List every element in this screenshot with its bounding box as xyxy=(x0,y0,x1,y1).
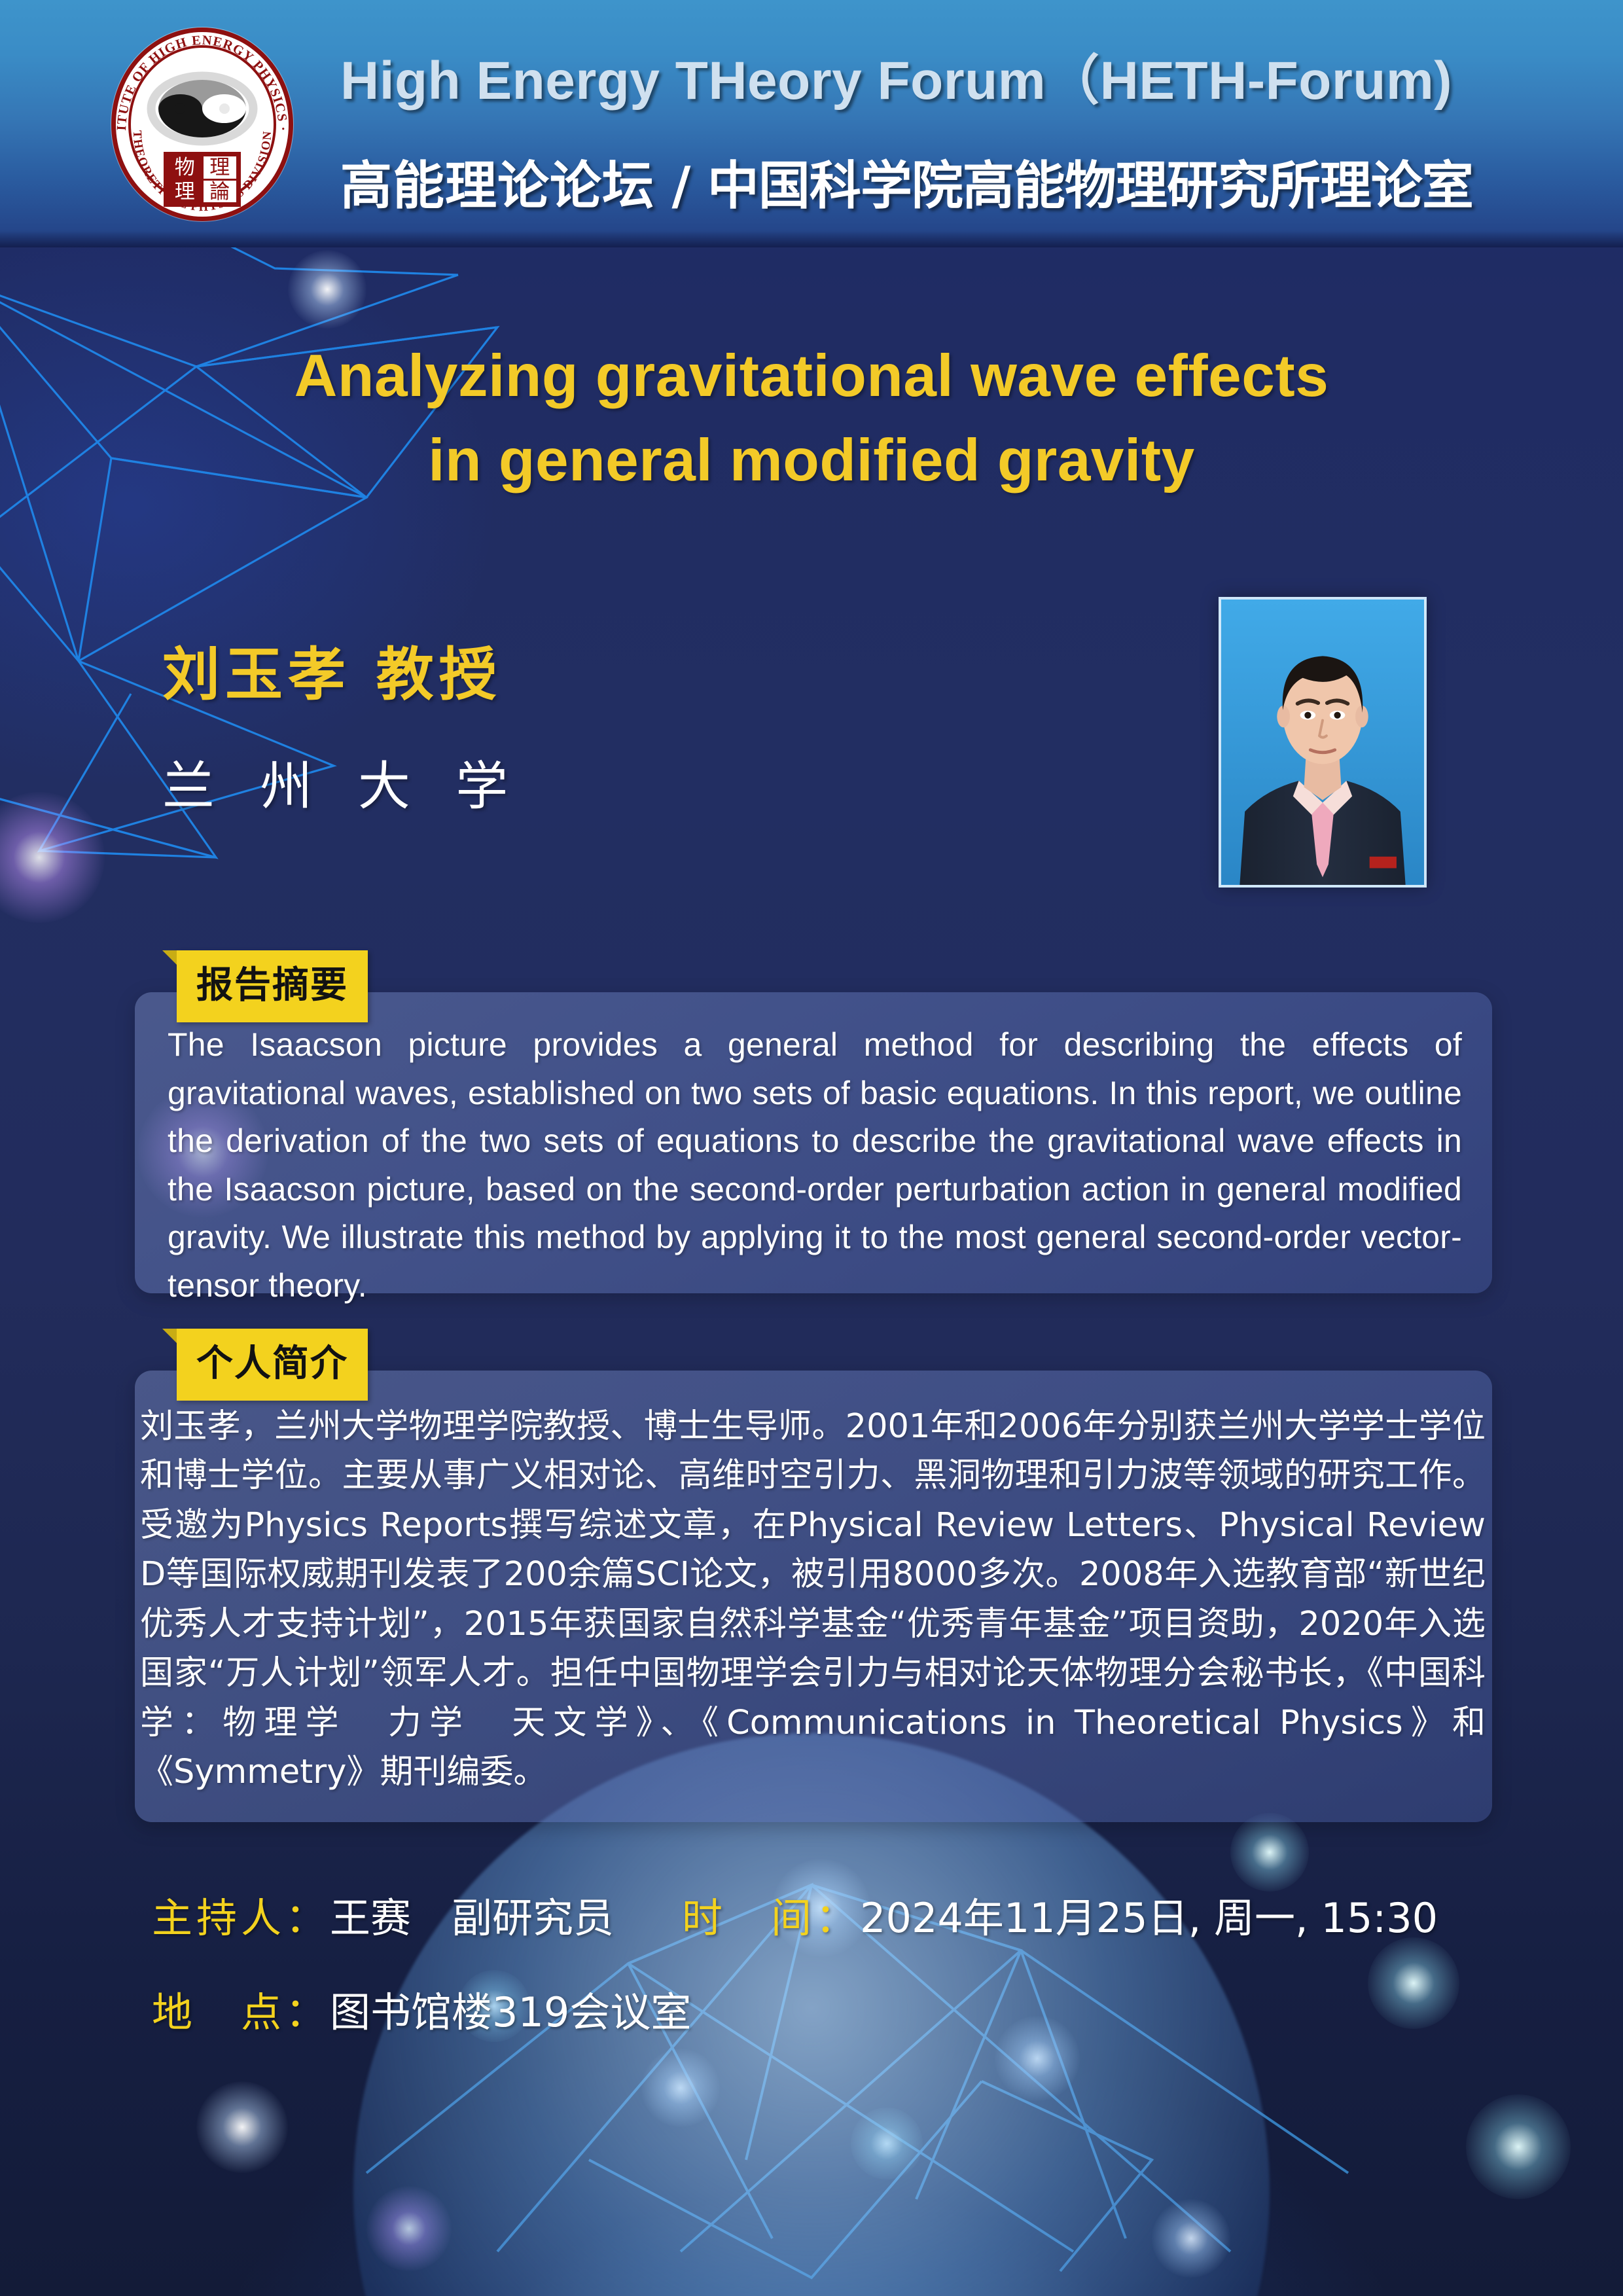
bio-section-tag: 个人简介 xyxy=(177,1329,368,1401)
info-row-host-time: 主持人： 王赛 副研究员 时 间： 2024年11月25日, 周一, 15:30 xyxy=(152,1898,1526,1939)
logo-seal-characters: 物 理 理 論 xyxy=(164,152,241,207)
header-title-group: High Energy THeory Forum（HETH-Forum) 高能理… xyxy=(340,37,1571,219)
host-label: 主持人： xyxy=(152,1898,330,1939)
place-label: 地 点： xyxy=(152,1992,330,2033)
speaker-name: 刘玉孝 教授 xyxy=(162,628,522,711)
event-info: 主持人： 王赛 副研究员 时 间： 2024年11月25日, 周一, 15:30… xyxy=(152,1898,1526,2087)
time-value: 2024年11月25日, 周一, 15:30 xyxy=(860,1898,1438,1939)
yin-yang-galaxy-icon xyxy=(145,71,259,149)
ihep-logo: INSTITUTE OF HIGH ENERGY PHYSICS · CAS T… xyxy=(111,27,293,221)
place-value: 图书馆楼319会议室 xyxy=(330,1992,691,2033)
star-glow xyxy=(196,2081,288,2173)
star-glow xyxy=(366,2186,452,2271)
speaker-affiliation: 兰 州 大 学 xyxy=(162,744,522,820)
star-glow xyxy=(851,2108,923,2179)
time-label: 时 间： xyxy=(682,1898,860,1939)
speaker-block: 刘玉孝 教授 兰 州 大 学 xyxy=(162,628,522,820)
bio-text: 刘玉孝，兰州大学物理学院教授、博士生导师。2001年和2006年分别获兰州大学学… xyxy=(140,1402,1486,1797)
forum-title-cn-lead: 高能理论论坛 xyxy=(340,156,654,216)
forum-title-cn-rest: / 中国科学院高能物理研究所理论室 xyxy=(654,156,1473,216)
forum-title-en: High Energy THeory Forum（HETH-Forum) xyxy=(340,37,1571,115)
star-glow xyxy=(1152,2199,1230,2278)
star-glow xyxy=(1466,2094,1571,2199)
talk-title: Analyzing gravitational wave effects in … xyxy=(0,334,1623,503)
talk-title-line-2: in general modified gravity xyxy=(0,418,1623,503)
star-glow xyxy=(0,792,105,923)
seal-char: 理 xyxy=(168,181,202,203)
info-row-place: 地 点： 图书馆楼319会议室 xyxy=(152,1992,1526,2033)
star-glow xyxy=(288,250,366,329)
abstract-section-tag: 报告摘要 xyxy=(177,950,368,1022)
seal-char: 論 xyxy=(204,181,237,203)
header-band: INSTITUTE OF HIGH ENERGY PHYSICS · CAS T… xyxy=(0,0,1623,247)
portrait-illustration xyxy=(1221,600,1424,885)
host-value: 王赛 副研究员 xyxy=(330,1898,614,1939)
seal-char: 物 xyxy=(168,156,202,179)
speaker-portrait xyxy=(1219,597,1427,888)
seal-char: 理 xyxy=(204,156,237,179)
poster-root: INSTITUTE OF HIGH ENERGY PHYSICS · CAS T… xyxy=(0,0,1623,2296)
forum-title-cn: 高能理论论坛 / 中国科学院高能物理研究所理论室 xyxy=(340,143,1571,219)
talk-title-line-1: Analyzing gravitational wave effects xyxy=(0,334,1623,418)
star-glow xyxy=(1230,1813,1309,1892)
abstract-text: The Isaacson picture provides a general … xyxy=(168,1021,1462,1310)
